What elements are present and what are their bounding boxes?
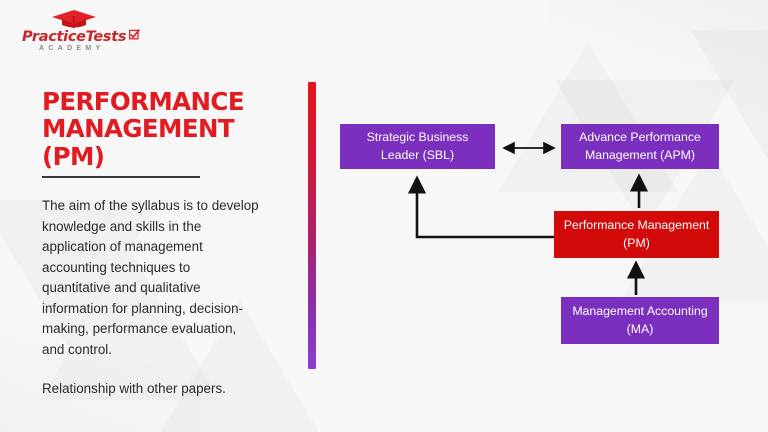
node-management-accounting[interactable]: Management Accounting (MA) bbox=[561, 297, 719, 344]
node-sbl-label: Strategic Business Leader (SBL) bbox=[346, 129, 489, 164]
node-pm-label: Performance Management (PM) bbox=[560, 217, 713, 252]
node-apm-label: Advance Performance Management (APM) bbox=[567, 129, 713, 164]
node-ma-label: Management Accounting (MA) bbox=[567, 303, 713, 338]
relationship-diagram: Strategic Business Leader (SBL) Advance … bbox=[0, 0, 768, 432]
node-advance-performance-management[interactable]: Advance Performance Management (APM) bbox=[561, 124, 719, 169]
node-performance-management[interactable]: Performance Management (PM) bbox=[554, 211, 719, 258]
slide-canvas: PracticeTests ACADEMY PERFORMANCE MANAGE… bbox=[0, 0, 768, 432]
connector-pm-sbl bbox=[417, 178, 554, 237]
node-strategic-business-leader[interactable]: Strategic Business Leader (SBL) bbox=[340, 124, 495, 169]
